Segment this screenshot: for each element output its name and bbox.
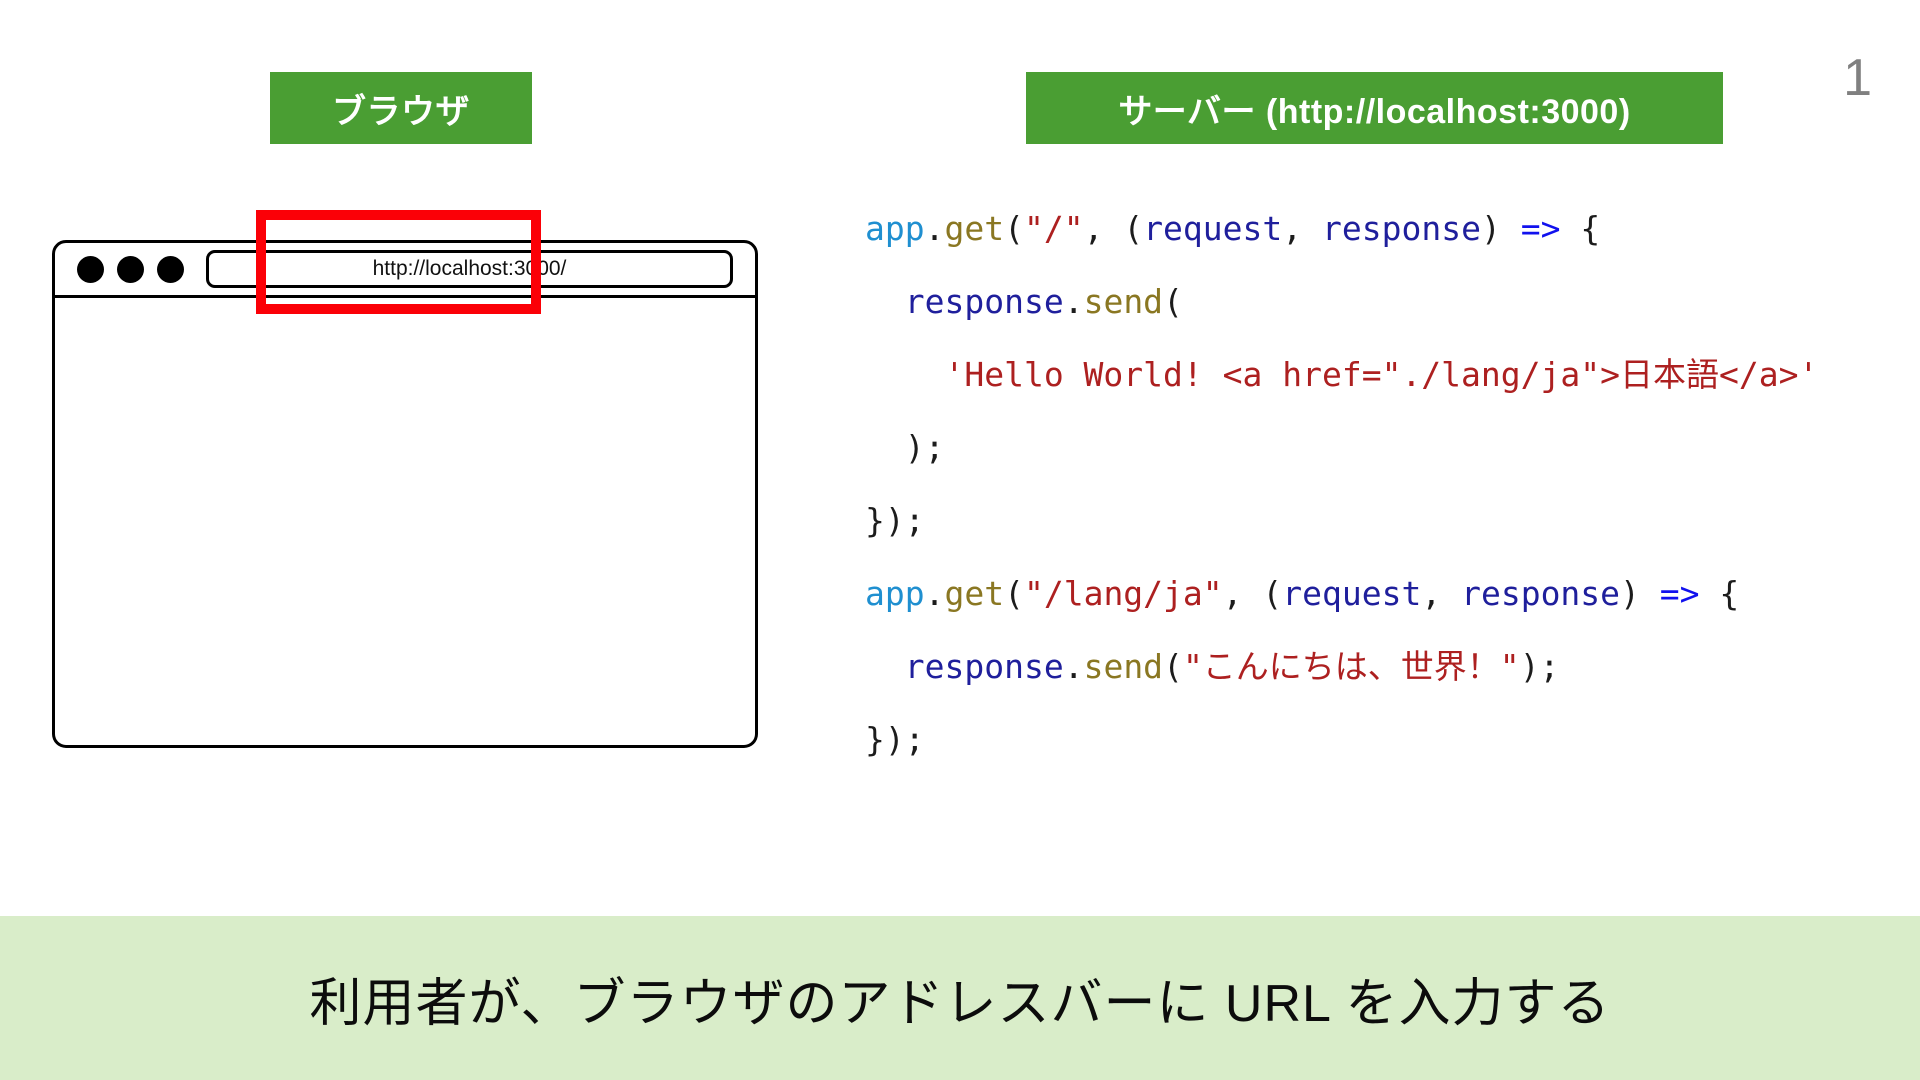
browser-column-header-label: ブラウザ [332,84,470,133]
code-token: }); [865,501,925,540]
code-token: . [1064,282,1084,321]
code-token: ( [1163,647,1183,686]
code-token: request [1282,574,1421,613]
code-token: => [1660,574,1700,613]
code-token: ( [1004,574,1024,613]
code-token: app [865,574,925,613]
code-token: 'Hello World! <a href="./lang/ja">日本語</a… [944,355,1818,394]
browser-column-header: ブラウザ [270,72,532,144]
code-token: response [905,647,1064,686]
code-line: ); [865,411,1875,484]
server-column-header-label: サーバー (http://localhost:3000) [1118,84,1630,133]
caption-banner: 利用者が、ブラウザのアドレスバーに URL を入力する [0,916,1920,1080]
code-token: request [1143,209,1282,248]
code-token [865,355,944,394]
code-token: response [905,282,1064,321]
code-line: response.send( [865,265,1875,338]
code-token: response [1461,574,1620,613]
code-token: response [1322,209,1481,248]
address-bar[interactable]: http://localhost:3000/ [206,250,733,288]
browser-mock-window: http://localhost:3000/ [52,240,758,748]
code-line: 'Hello World! <a href="./lang/ja">日本語</a… [865,338,1875,411]
code-token [865,647,905,686]
code-token: ( [1004,209,1024,248]
code-token [865,282,905,321]
code-line: app.get("/", (request, response) => { [865,192,1875,265]
window-controls [77,256,184,283]
page-number: 1 [1843,52,1872,104]
code-token: , [1282,209,1322,248]
caption-text: 利用者が、ブラウザのアドレスバーに URL を入力する [310,961,1611,1036]
browser-viewport [52,298,758,748]
code-token: ( [1163,282,1183,321]
code-token: . [925,209,945,248]
code-token: { [1560,209,1600,248]
code-token: , ( [1223,574,1283,613]
code-token: }); [865,720,925,759]
code-line: app.get("/lang/ja", (request, response) … [865,557,1875,630]
address-bar-input[interactable]: http://localhost:3000/ [373,257,567,281]
code-token: app [865,209,925,248]
minimize-dot-icon[interactable] [117,256,144,283]
code-token: => [1521,209,1561,248]
code-token: . [925,574,945,613]
code-token: send [1084,282,1163,321]
code-token: "/lang/ja" [1024,574,1223,613]
code-token: get [944,209,1004,248]
maximize-dot-icon[interactable] [157,256,184,283]
code-line: response.send("こんにちは、世界！"); [865,630,1875,703]
code-token: ); [1520,647,1560,686]
code-line: }); [865,703,1875,776]
code-token: ); [865,428,944,467]
code-token: ) [1620,574,1660,613]
code-token: ) [1481,209,1521,248]
code-token: , ( [1084,209,1144,248]
code-token: get [944,574,1004,613]
code-token: { [1700,574,1740,613]
browser-titlebar: http://localhost:3000/ [52,240,758,298]
code-token: send [1084,647,1163,686]
code-token: . [1064,647,1084,686]
server-code-block: app.get("/", (request, response) => { re… [865,192,1875,776]
close-dot-icon[interactable] [77,256,104,283]
code-line: }); [865,484,1875,557]
code-token: "/" [1024,209,1084,248]
code-token: , [1421,574,1461,613]
server-column-header: サーバー (http://localhost:3000) [1026,72,1723,144]
code-token: "こんにちは、世界！" [1183,647,1520,686]
